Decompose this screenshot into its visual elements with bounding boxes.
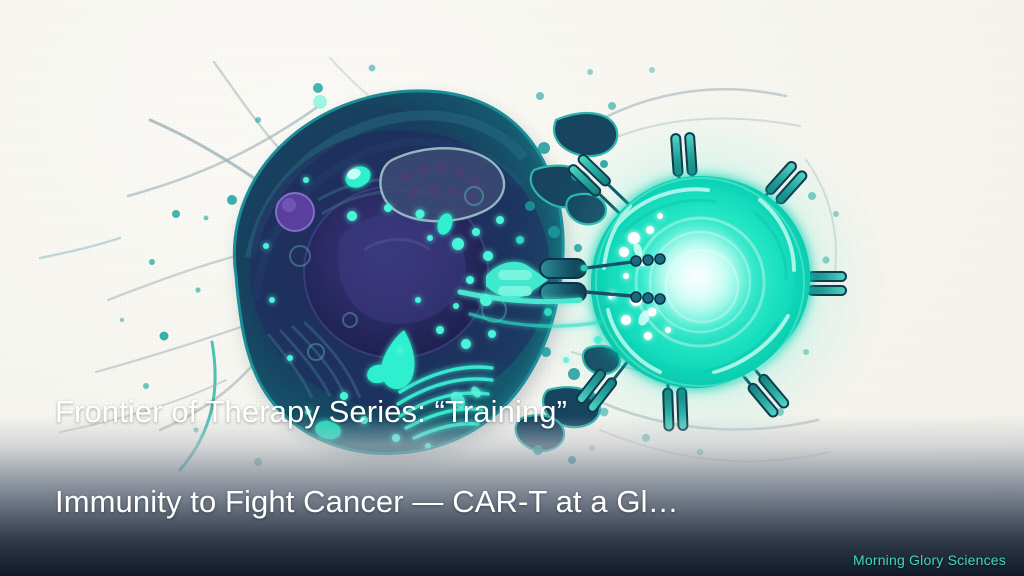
title-line-1: Frontier of Therapy Series: “Training”	[55, 394, 567, 429]
watermark-brand: Morning Glory Sciences	[853, 552, 1006, 568]
tumor-vesicle	[276, 193, 314, 231]
title-line-2: Immunity to Fight Cancer — CAR-T at a Gl…	[55, 484, 679, 519]
page-title: Frontier of Therapy Series: “Training” I…	[55, 344, 954, 524]
illustration-card: Frontier of Therapy Series: “Training” I…	[0, 0, 1024, 576]
tumor-mitochondrion	[380, 148, 504, 221]
